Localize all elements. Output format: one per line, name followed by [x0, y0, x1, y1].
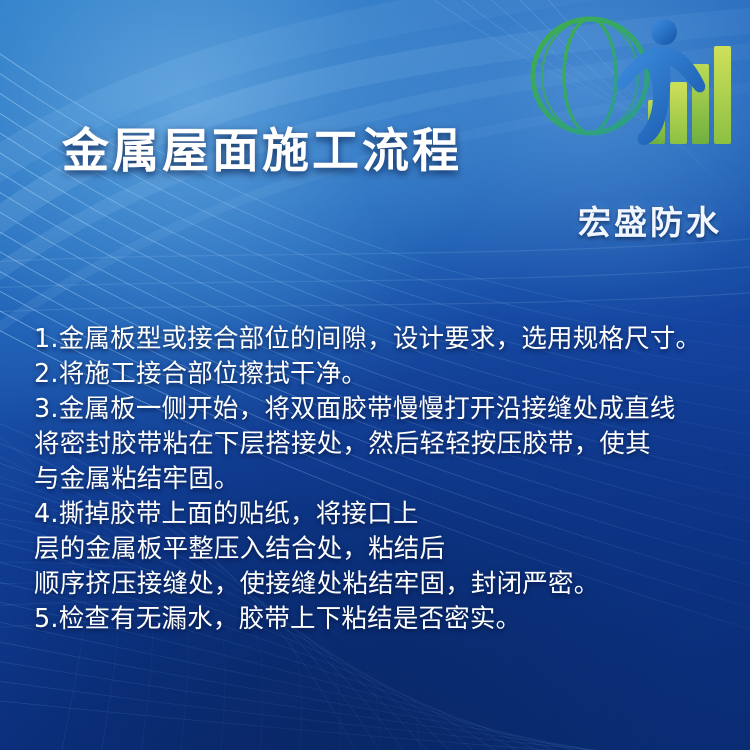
step-line: 层的金属板平整压入结合处，粘结后: [34, 532, 734, 567]
step-line: 5.检查有无漏水，胶带上下粘结是否密实。: [34, 602, 734, 637]
step-line: 顺序挤压接缝处，使接缝处粘结牢固，封闭严密。: [34, 567, 734, 602]
step-line: 4.撕掉胶带上面的贴纸，将接口上: [34, 497, 734, 532]
step-line: 3.金属板一侧开始，将双面胶带慢慢打开沿接缝处成直线: [34, 392, 734, 427]
step-line: 1.金属板型或接合部位的间隙，设计要求，选用规格尺寸。: [34, 322, 734, 357]
company-logo: [520, 8, 742, 168]
page-title: 金属屋面施工流程: [62, 112, 462, 181]
step-line: 将密封胶带粘在下层搭接处，然后轻轻按压胶带，使其: [34, 427, 734, 462]
procedure-steps-list: 1.金属板型或接合部位的间隙，设计要求，选用规格尺寸。 2.将施工接合部位擦拭干…: [34, 322, 734, 637]
brand-name: 宏盛防水: [552, 196, 748, 244]
step-line: 2.将施工接合部位擦拭干净。: [34, 357, 734, 392]
poster-canvas: 宏盛防水 金属屋面施工流程 1.金属板型或接合部位的间隙，设计要求，选用规格尺寸…: [0, 0, 750, 750]
step-line: 与金属粘结牢固。: [34, 462, 734, 497]
